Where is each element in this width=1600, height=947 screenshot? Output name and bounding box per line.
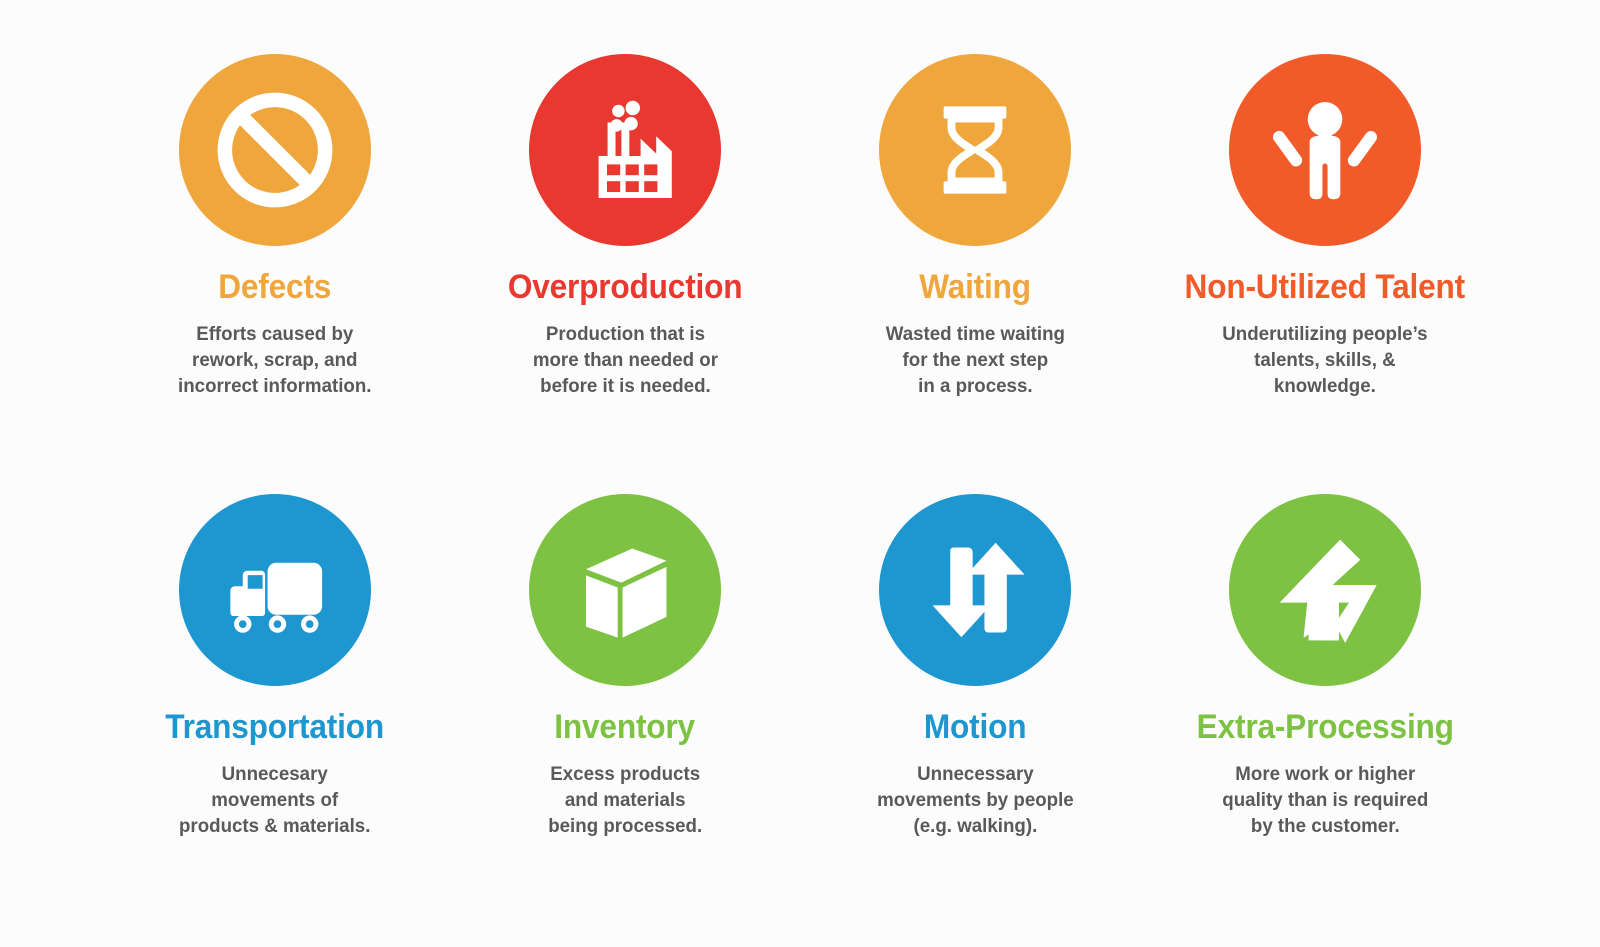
- waste-card-motion[interactable]: Motion Unnecessarymovements by people(e.…: [800, 480, 1150, 920]
- waste-title: Non-Utilized Talent: [1185, 270, 1465, 306]
- waste-title: Motion: [924, 710, 1026, 746]
- up-down-arrows-icon: [916, 531, 1034, 649]
- waste-card-non-utilized-talent[interactable]: Non-Utilized Talent Underutilizing peopl…: [1150, 40, 1500, 480]
- description-line: Production that is: [532, 321, 717, 347]
- waiting-icon-circle[interactable]: [879, 54, 1071, 246]
- waste-description: More work or higherquality than is requi…: [1222, 761, 1428, 839]
- description-line: quality than is required: [1222, 787, 1428, 813]
- waste-description: Production that ismore than needed orbef…: [532, 321, 717, 399]
- waste-description: Efforts caused byrework, scrap, andincor…: [178, 321, 371, 399]
- description-line: Unnecesary: [179, 761, 370, 787]
- description-line: Efforts caused by: [178, 321, 371, 347]
- description-line: for the next step: [885, 347, 1064, 373]
- infographic-board: Defects Efforts caused byrework, scrap, …: [0, 0, 1600, 947]
- description-line: rework, scrap, and: [178, 347, 371, 373]
- waste-description: Wasted time waitingfor the next stepin a…: [885, 321, 1064, 399]
- truck-icon: [213, 528, 337, 652]
- waste-title: Transportation: [166, 710, 385, 746]
- waste-description: Underutilizing people’stalents, skills, …: [1222, 321, 1427, 399]
- motion-icon-circle[interactable]: [879, 494, 1071, 686]
- waste-title: Inventory: [555, 710, 696, 746]
- inventory-icon-circle[interactable]: [529, 494, 721, 686]
- overproduction-icon-circle[interactable]: [529, 54, 721, 246]
- prohibition-icon: [209, 84, 341, 216]
- waste-title: Defects: [219, 270, 332, 306]
- description-line: movements by people: [877, 787, 1074, 813]
- description-line: more than needed or: [532, 347, 717, 373]
- description-line: and materials: [548, 787, 702, 813]
- description-line: before it is needed.: [532, 373, 717, 399]
- description-line: Underutilizing people’s: [1222, 321, 1427, 347]
- zigzag-arrow-icon: [1262, 527, 1388, 653]
- waste-card-inventory[interactable]: Inventory Excess productsand materialsbe…: [450, 480, 800, 920]
- description-line: products & materials.: [179, 813, 370, 839]
- description-line: More work or higher: [1222, 761, 1428, 787]
- waste-card-waiting[interactable]: Waiting Wasted time waitingfor the next …: [800, 40, 1150, 480]
- non-utilized-talent-icon-circle[interactable]: [1229, 54, 1421, 246]
- description-line: being processed.: [548, 813, 702, 839]
- description-line: movements of: [179, 787, 370, 813]
- description-line: (e.g. walking).: [877, 813, 1074, 839]
- waste-card-transportation[interactable]: Transportation Unnecesarymovements ofpro…: [100, 480, 450, 920]
- waste-title: Overproduction: [508, 270, 743, 306]
- description-line: knowledge.: [1222, 373, 1427, 399]
- description-line: talents, skills, &: [1222, 347, 1427, 373]
- waste-card-extra-processing[interactable]: Extra-Processing More work or higherqual…: [1150, 480, 1500, 920]
- description-line: Unnecessary: [877, 761, 1074, 787]
- description-line: Excess products: [548, 761, 702, 787]
- factory-icon: [565, 90, 685, 210]
- description-line: Wasted time waiting: [885, 321, 1064, 347]
- person-arms-raised-icon: [1261, 86, 1389, 214]
- waste-grid: Defects Efforts caused byrework, scrap, …: [100, 40, 1500, 920]
- extra-processing-icon-circle[interactable]: [1229, 494, 1421, 686]
- waste-card-overproduction[interactable]: Overproduction Production that ismore th…: [450, 40, 800, 480]
- waste-description: Unnecessarymovements by people(e.g. walk…: [877, 761, 1074, 839]
- waste-title: Waiting: [919, 270, 1031, 306]
- defects-icon-circle[interactable]: [179, 54, 371, 246]
- description-line: incorrect information.: [178, 373, 371, 399]
- box-cube-icon: [564, 529, 686, 651]
- description-line: in a process.: [885, 373, 1064, 399]
- waste-description: Excess productsand materialsbeing proces…: [548, 761, 702, 839]
- transportation-icon-circle[interactable]: [179, 494, 371, 686]
- description-line: by the customer.: [1222, 813, 1428, 839]
- waste-title: Extra-Processing: [1196, 710, 1453, 746]
- hourglass-icon: [919, 94, 1031, 206]
- waste-card-defects[interactable]: Defects Efforts caused byrework, scrap, …: [100, 40, 450, 480]
- waste-description: Unnecesarymovements ofproducts & materia…: [179, 761, 370, 839]
